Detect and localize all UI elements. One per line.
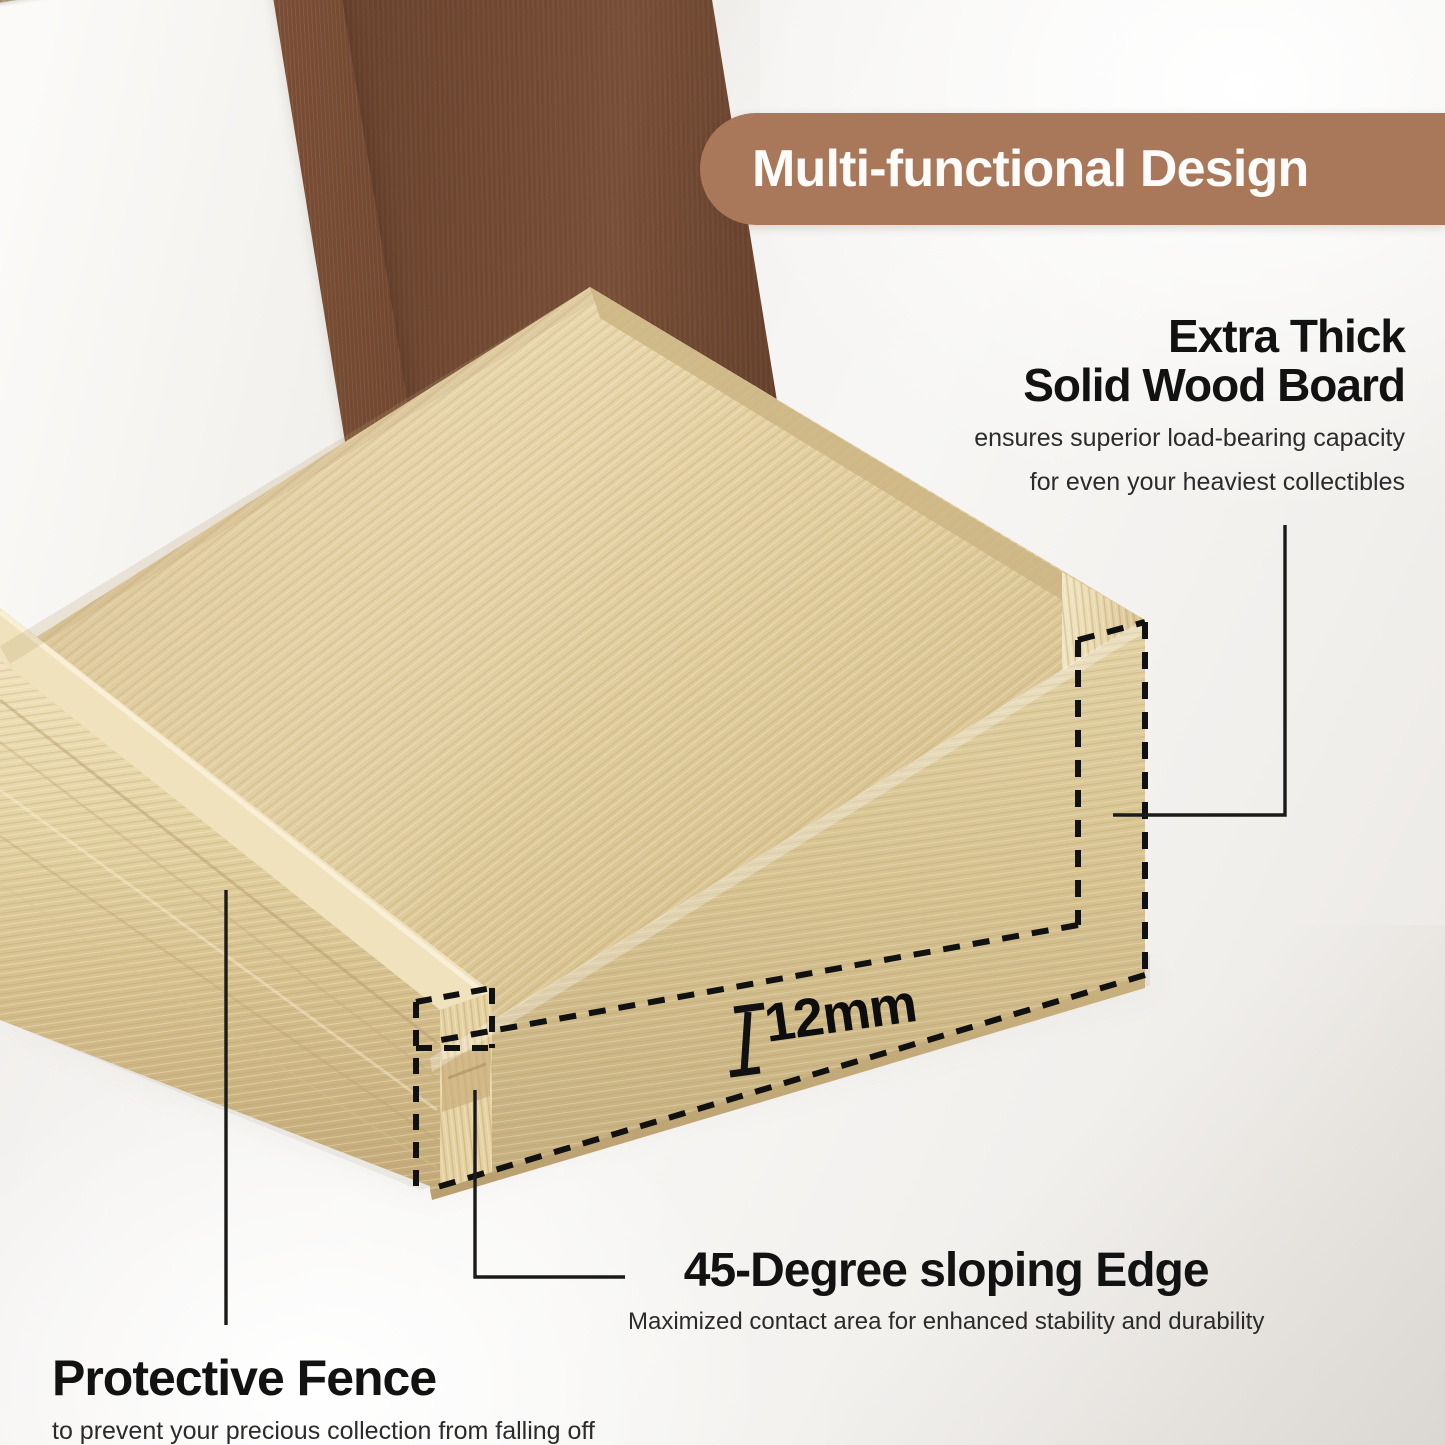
callout-extra-thick-sub-line2: for even your heaviest collectibles (974, 467, 1405, 499)
callout-sloping-edge: 45-Degree sloping Edge Maximized contact… (628, 1246, 1264, 1337)
callout-sloping-edge-title: 45-Degree sloping Edge (628, 1246, 1264, 1297)
callout-protective-fence-title: Protective Fence (52, 1352, 595, 1405)
callout-extra-thick: Extra Thick Solid Wood Board ensures sup… (974, 312, 1405, 499)
fence-left-end-cap (440, 992, 492, 1190)
callout-sloping-edge-sub: Maximized contact area for enhanced stab… (628, 1307, 1264, 1337)
banner-multi-functional-design: Multi-functional Design (700, 113, 1445, 225)
callout-protective-fence-sub: to prevent your precious collection from… (52, 1416, 595, 1445)
callout-extra-thick-title-line1: Extra Thick (974, 312, 1405, 361)
callout-extra-thick-sub-line1: ensures superior load-bearing capacity (974, 423, 1405, 455)
callout-extra-thick-title-line2: Solid Wood Board (974, 361, 1405, 410)
banner-label: Multi-functional Design (752, 139, 1308, 199)
product-infographic: Multi-functional Design Extra Thick Soli… (0, 0, 1445, 1445)
callout-protective-fence: Protective Fence to prevent your preciou… (52, 1352, 595, 1445)
